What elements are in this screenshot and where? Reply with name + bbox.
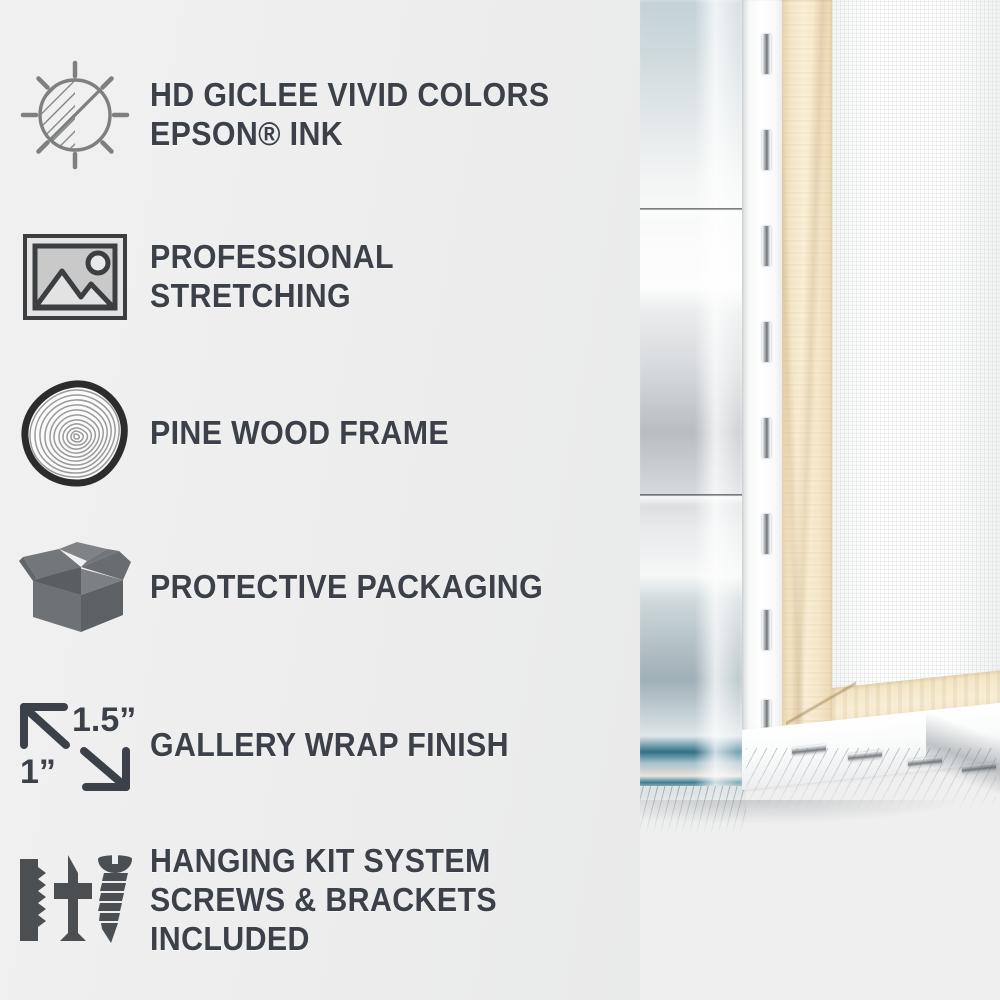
feature-label: PINE WOOD FRAME [150, 414, 601, 453]
staple [762, 514, 771, 554]
feature-label: GALLERY WRAP FINISH [150, 726, 601, 765]
feature-row-pine-wood-frame: PINE WOOD FRAME [0, 378, 640, 488]
feature-row-hanging-kit: HANGING KIT SYSTEM SCREWS & BRACKETS INC… [0, 842, 640, 959]
framed-picture-icon [0, 222, 150, 332]
depth-top-label: 1.5” [72, 701, 136, 739]
staple [762, 322, 771, 362]
canvas-corner-photo [596, 0, 1000, 1000]
staple [762, 610, 771, 650]
photo-highlight [926, 700, 1000, 800]
infographic-canvas: HD GICLEE VIVID COLORS EPSON® INK PROFES… [0, 0, 1000, 1000]
pine-wood-frame-rail [782, 0, 834, 764]
feature-label: HD GICLEE VIVID COLORS EPSON® INK [150, 76, 601, 154]
feature-label: PROFESSIONAL STRETCHING [150, 238, 601, 316]
staple [762, 226, 771, 266]
canvas-wrap-edge [742, 0, 784, 782]
feature-row-hd-giclee: HD GICLEE VIVID COLORS EPSON® INK [0, 60, 640, 170]
feature-row-gallery-wrap-finish: 1.5” 1” GALLERY WRAP FINISH [0, 690, 640, 800]
drop-shadow [596, 800, 1000, 860]
feature-label: HANGING KIT SYSTEM SCREWS & BRACKETS INC… [150, 842, 601, 959]
sun-print-icon [0, 60, 150, 170]
staple [762, 130, 771, 170]
tree-rings-icon [0, 378, 150, 488]
canvas-back-fabric [832, 0, 1000, 742]
staple [762, 34, 771, 74]
hardware-icon [0, 845, 150, 955]
feature-row-protective-packaging: PROTECTIVE PACKAGING [0, 532, 640, 642]
feature-list: HD GICLEE VIVID COLORS EPSON® INK PROFES… [0, 0, 640, 1000]
staple [762, 418, 771, 458]
depth-bottom-label: 1” [20, 753, 56, 791]
open-box-icon [0, 532, 150, 642]
feature-label: PROTECTIVE PACKAGING [150, 568, 601, 607]
wood-grain [782, 0, 834, 764]
feature-row-professional-stretching: PROFESSIONAL STRETCHING [0, 222, 640, 332]
depth-arrows-icon: 1.5” 1” [0, 690, 150, 800]
